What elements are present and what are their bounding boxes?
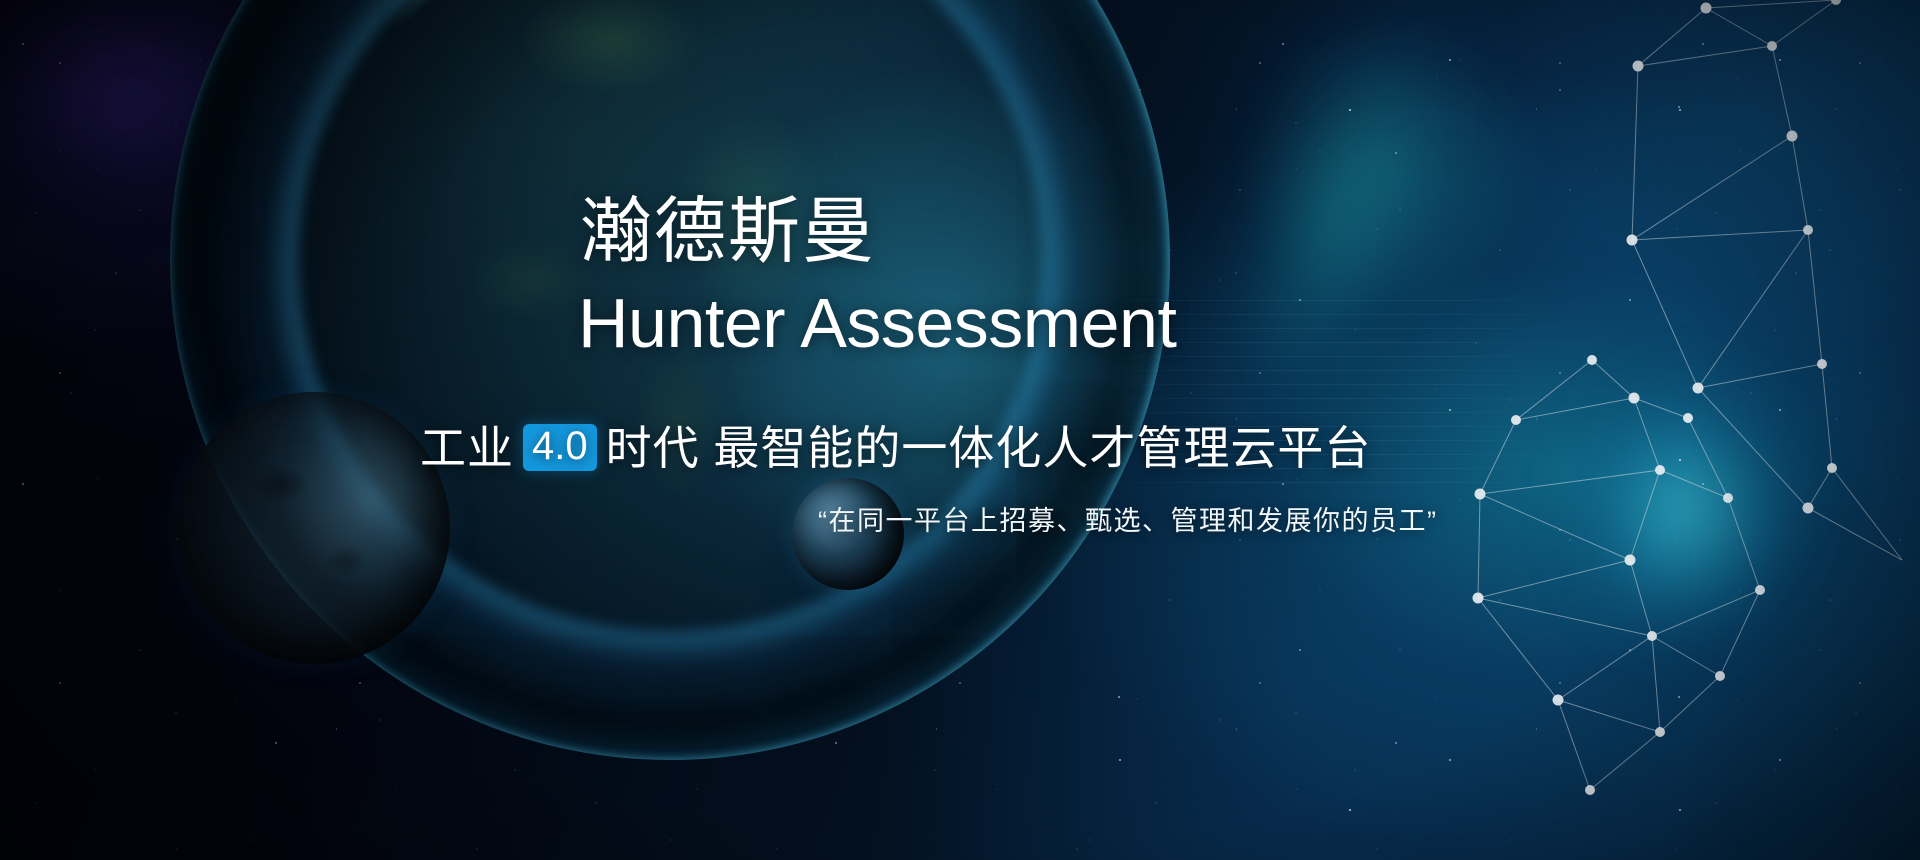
hero-banner: 瀚德斯曼 Hunter Assessment 工业 4.0 时代 最智能的一体化…: [0, 0, 1920, 860]
tagline: 工业 4.0 时代 最智能的一体化人才管理云平台: [420, 424, 1371, 471]
brand-title-en: Hunter Assessment: [578, 288, 1176, 358]
hero-quote: “在同一平台上招募、甄选、管理和发展你的员工”: [818, 508, 1437, 535]
tagline-prefix: 工业: [420, 425, 514, 471]
industry-version-badge: 4.0: [523, 424, 597, 471]
tagline-suffix: 时代 最智能的一体化人才管理云平台: [606, 425, 1372, 471]
hero-copy: 瀚德斯曼 Hunter Assessment 工业 4.0 时代 最智能的一体化…: [0, 0, 1920, 860]
brand-title-cn: 瀚德斯曼: [580, 196, 876, 268]
